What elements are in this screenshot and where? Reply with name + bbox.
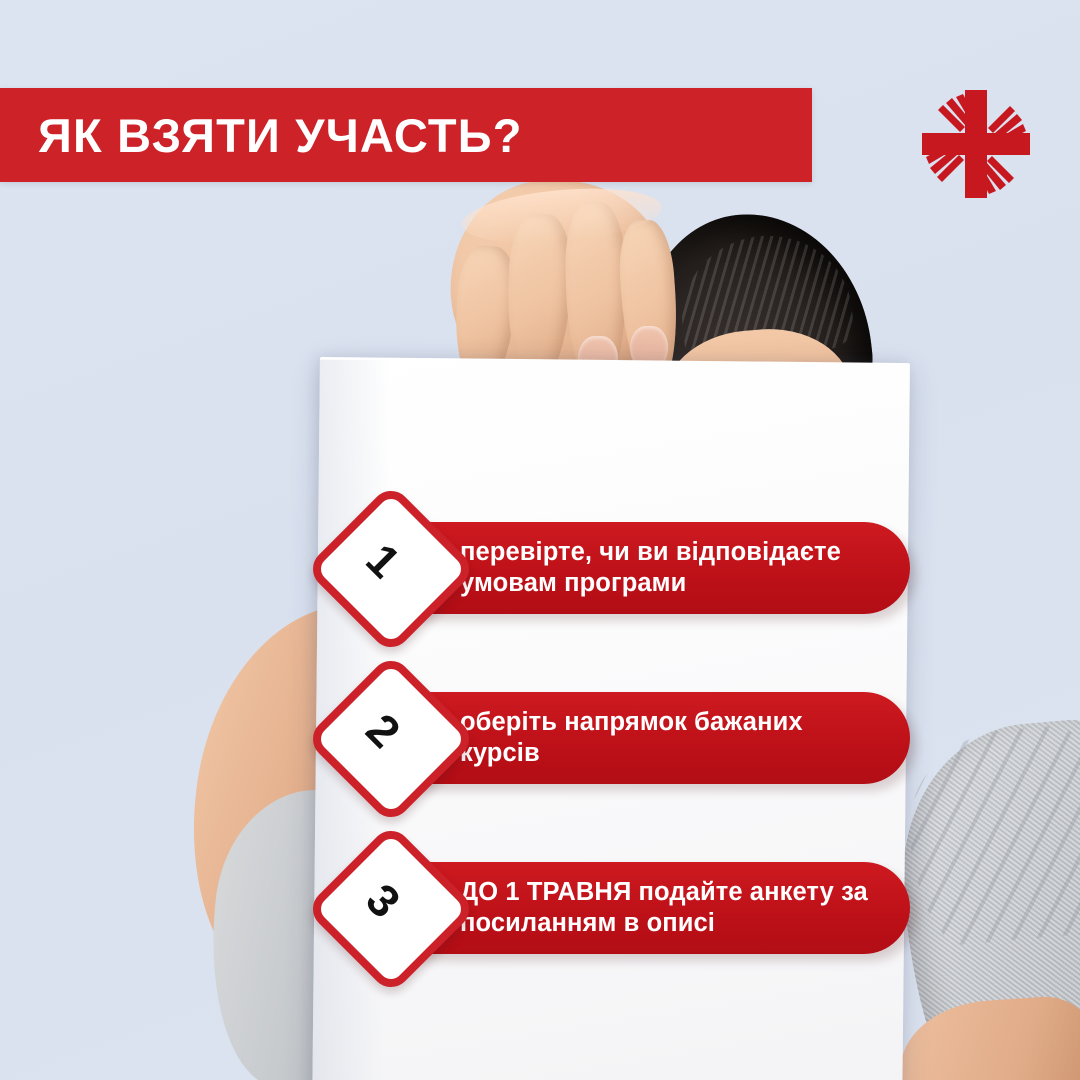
step-1-badge bbox=[305, 483, 478, 656]
steps-list: перевірте, чи ви відповідаєте умовам про… bbox=[0, 0, 1080, 1080]
step-2-badge bbox=[305, 653, 478, 826]
poster-canvas: ЯК ВЗЯТИ УЧАСТЬ? bbox=[0, 0, 1080, 1080]
step-1-text: перевірте, чи ви відповідаєте умовам про… bbox=[408, 537, 910, 599]
step-3-pill: ДО 1 ТРАВНЯ подайте анкету за посиланням… bbox=[408, 862, 910, 954]
step-3-text: ДО 1 ТРАВНЯ подайте анкету за посиланням… bbox=[408, 877, 910, 939]
step-2-text: оберіть напрямок бажаних курсів bbox=[408, 707, 910, 769]
step-1-pill: перевірте, чи ви відповідаєте умовам про… bbox=[408, 522, 910, 614]
step-2-pill: оберіть напрямок бажаних курсів bbox=[408, 692, 910, 784]
step-3-badge bbox=[305, 823, 478, 996]
